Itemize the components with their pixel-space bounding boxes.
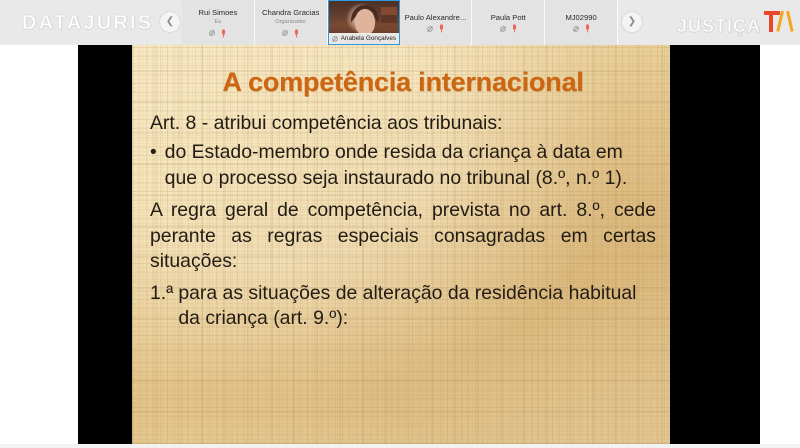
participant-tile[interactable]: Anabela Gonçalves — [328, 0, 400, 45]
justica-ta-logo: JUSTIÇA — [677, 10, 792, 37]
camera-off-icon — [281, 29, 289, 37]
window-bottom-edge — [0, 444, 800, 448]
participant-name: Paula Pott — [491, 13, 526, 23]
presentation-slide[interactable]: A competência internacional Art. 8 - atr… — [132, 44, 670, 444]
participant-name-overlay: Anabela Gonçalves — [329, 33, 399, 44]
participant-tiles: Rui SimoesEuChandra GraciasOrganizadorAn… — [182, 0, 618, 45]
mic-muted-icon — [584, 24, 591, 33]
bullet-marker-icon: • — [150, 140, 157, 191]
meeting-presentation-window: DATAJURIS JUSTIÇA ❮ ❯ Rui SimoesEuChandr… — [0, 0, 800, 448]
mic-muted-icon — [511, 24, 518, 33]
slide-numbered-item: 1.ª para as situações de alteração da re… — [150, 281, 656, 332]
participant-status-icons — [208, 29, 227, 37]
presentation-stage: A competência internacional Art. 8 - atr… — [0, 44, 800, 444]
participant-role: Eu — [214, 18, 221, 27]
participant-status-icons — [572, 25, 591, 33]
slide-lead-line: Art. 8 - atribui competência aos tribuna… — [150, 111, 656, 137]
participant-filmstrip: DATAJURIS JUSTIÇA ❮ ❯ Rui SimoesEuChandr… — [0, 0, 800, 45]
participant-name: Anabela Gonçalves — [341, 35, 396, 42]
participant-name: MJ02990 — [565, 13, 596, 23]
justica-logo-text: JUSTIÇA — [677, 16, 761, 37]
participant-name: Chandra Gracias — [262, 8, 319, 18]
ta-monogram-icon — [762, 10, 792, 32]
participant-name: Paulo Alexandre... — [405, 13, 467, 23]
participant-tile[interactable]: MJ02990 — [545, 0, 618, 45]
filmstrip-next-button[interactable]: ❯ — [622, 12, 642, 32]
slide-bullet-text: do Estado-membro onde resida da criança … — [165, 140, 656, 191]
participant-tile[interactable]: Paulo Alexandre... — [400, 0, 473, 45]
mic-muted-icon — [438, 24, 445, 33]
participant-tile[interactable]: Rui SimoesEu — [182, 0, 255, 45]
slide-paragraph-text: A regra geral de competência, prevista n… — [150, 198, 656, 275]
participant-name: Rui Simoes — [199, 8, 238, 18]
mic-muted-icon — [220, 29, 227, 38]
mic-muted-icon — [293, 29, 300, 38]
camera-off-icon — [208, 29, 216, 37]
slide-item-marker: 1.ª — [150, 281, 173, 332]
camera-off-icon — [499, 25, 507, 33]
participant-status-icons — [426, 25, 445, 33]
participant-status-icons — [281, 29, 300, 37]
slide-paragraph-block: A regra geral de competência, prevista n… — [150, 198, 656, 275]
slide-title: A competência internacional — [150, 68, 656, 98]
slide-bullet-item: • do Estado-membro onde resida da crianç… — [150, 140, 656, 191]
participant-tile[interactable]: Chandra GraciasOrganizador — [255, 0, 328, 45]
camera-off-icon — [572, 25, 580, 33]
camera-off-icon — [331, 35, 339, 43]
datajuris-logo: DATAJURIS — [22, 12, 153, 35]
slide-item-text: para as situações de alteração da residê… — [178, 281, 656, 332]
camera-off-icon — [426, 25, 434, 33]
filmstrip-prev-button[interactable]: ❮ — [160, 12, 180, 32]
participant-role: Organizador — [275, 18, 306, 27]
participant-status-icons — [499, 25, 518, 33]
participant-tile[interactable]: Paula Pott — [472, 0, 545, 45]
